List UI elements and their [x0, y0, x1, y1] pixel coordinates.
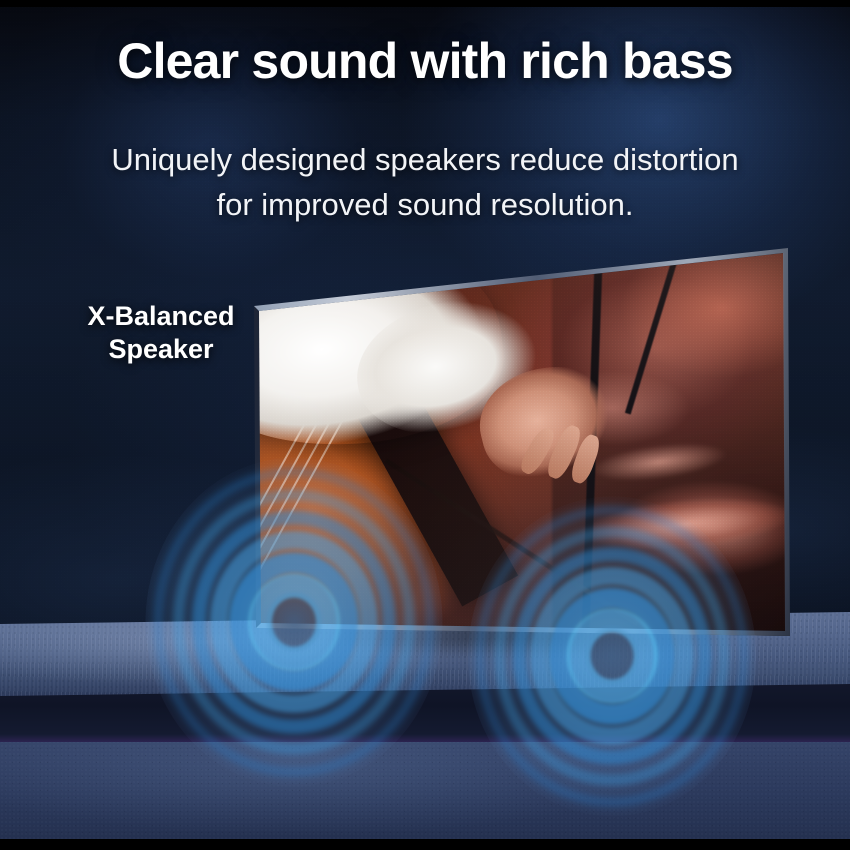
subtitle-line-1: Uniquely designed speakers reduce distor…	[0, 138, 850, 183]
letterbox-top	[0, 0, 850, 7]
letterbox-bottom	[0, 839, 850, 850]
television	[246, 242, 794, 646]
feature-panel: Clear sound with rich bass Uniquely desi…	[0, 0, 850, 850]
callout-line-1: X-Balanced	[48, 300, 274, 333]
feature-callout-label: X-Balanced Speaker	[48, 300, 274, 366]
subtitle-line-2: for improved sound resolution.	[0, 183, 850, 228]
photo-overhead-bar	[536, 242, 775, 246]
page-subtitle: Uniquely designed speakers reduce distor…	[0, 138, 850, 227]
callout-line-2: Speaker	[48, 333, 274, 366]
page-title: Clear sound with rich bass	[0, 32, 850, 90]
